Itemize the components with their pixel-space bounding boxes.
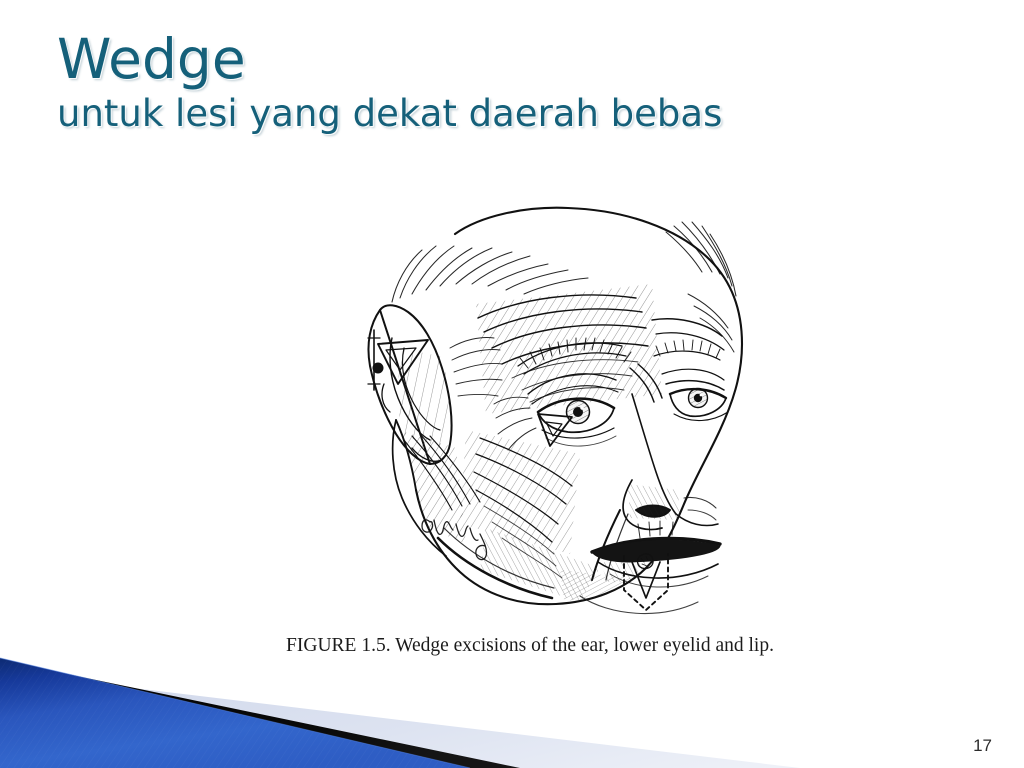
page-title: Wedge [57,28,957,90]
slide-canvas: Wedge untuk lesi yang dekat daerah bebas… [0,0,1024,768]
face-line-drawing: face line drawing [280,198,780,628]
page-number: 17 [973,736,992,756]
page-subtitle: untuk lesi yang dekat daerah bebas [57,91,957,137]
figure-block: face line drawing [280,198,780,678]
slide-title-block: Wedge untuk lesi yang dekat daerah bebas [57,28,957,137]
figure-caption: FIGURE 1.5. Wedge excisions of the ear, … [280,635,780,657]
